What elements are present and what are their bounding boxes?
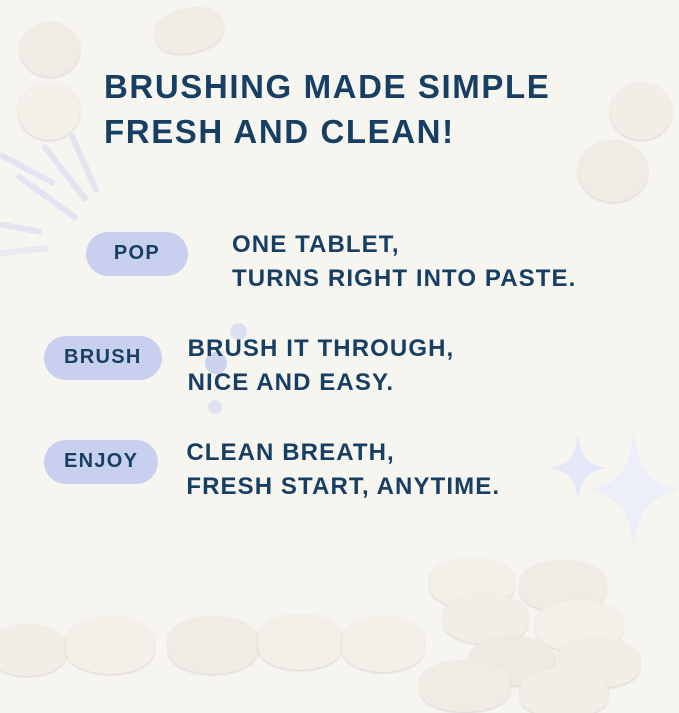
- poster-canvas: Brushing Made Simple Fresh and Clean! Po…: [0, 0, 679, 713]
- steps-list: Pop One tablet, turns right into paste. …: [44, 228, 644, 540]
- tablet-decoration: [342, 616, 424, 672]
- step-item-brush: Brush Brush it through, nice and easy.: [44, 332, 644, 400]
- step-text-enjoy-line-1: Clean breath,: [186, 436, 500, 470]
- step-text-brush: Brush it through, nice and easy.: [188, 332, 455, 400]
- step-item-enjoy: Enjoy Clean breath, fresh start, anytime…: [44, 436, 644, 504]
- tablet-decoration: [0, 624, 66, 676]
- page-title: Brushing Made Simple Fresh and Clean!: [104, 64, 644, 154]
- step-text-pop-line-1: One tablet,: [232, 228, 576, 262]
- step-badge-pop: Pop: [86, 232, 188, 276]
- step-badge-brush: Brush: [44, 336, 162, 380]
- tablet-decoration: [18, 82, 80, 140]
- step-text-brush-line-1: Brush it through,: [188, 332, 455, 366]
- tablet-decoration: [520, 668, 608, 713]
- step-text-brush-line-2: nice and easy.: [188, 366, 455, 400]
- tablet-decoration: [168, 616, 258, 674]
- tablet-decoration: [66, 616, 154, 674]
- step-item-pop: Pop One tablet, turns right into paste.: [86, 228, 644, 296]
- step-text-pop: One tablet, turns right into paste.: [232, 228, 576, 296]
- headline-line-2: Fresh and Clean!: [104, 109, 644, 154]
- step-text-enjoy-line-2: fresh start, anytime.: [186, 470, 500, 504]
- tablet-decoration: [420, 660, 510, 712]
- tablet-decoration: [20, 22, 80, 77]
- tablet-decoration: [151, 1, 227, 59]
- step-text-pop-line-2: turns right into paste.: [232, 262, 576, 296]
- tablet-decoration: [258, 614, 342, 670]
- step-badge-enjoy: Enjoy: [44, 440, 158, 484]
- step-text-enjoy: Clean breath, fresh start, anytime.: [186, 436, 500, 504]
- headline-line-1: Brushing Made Simple: [104, 64, 644, 109]
